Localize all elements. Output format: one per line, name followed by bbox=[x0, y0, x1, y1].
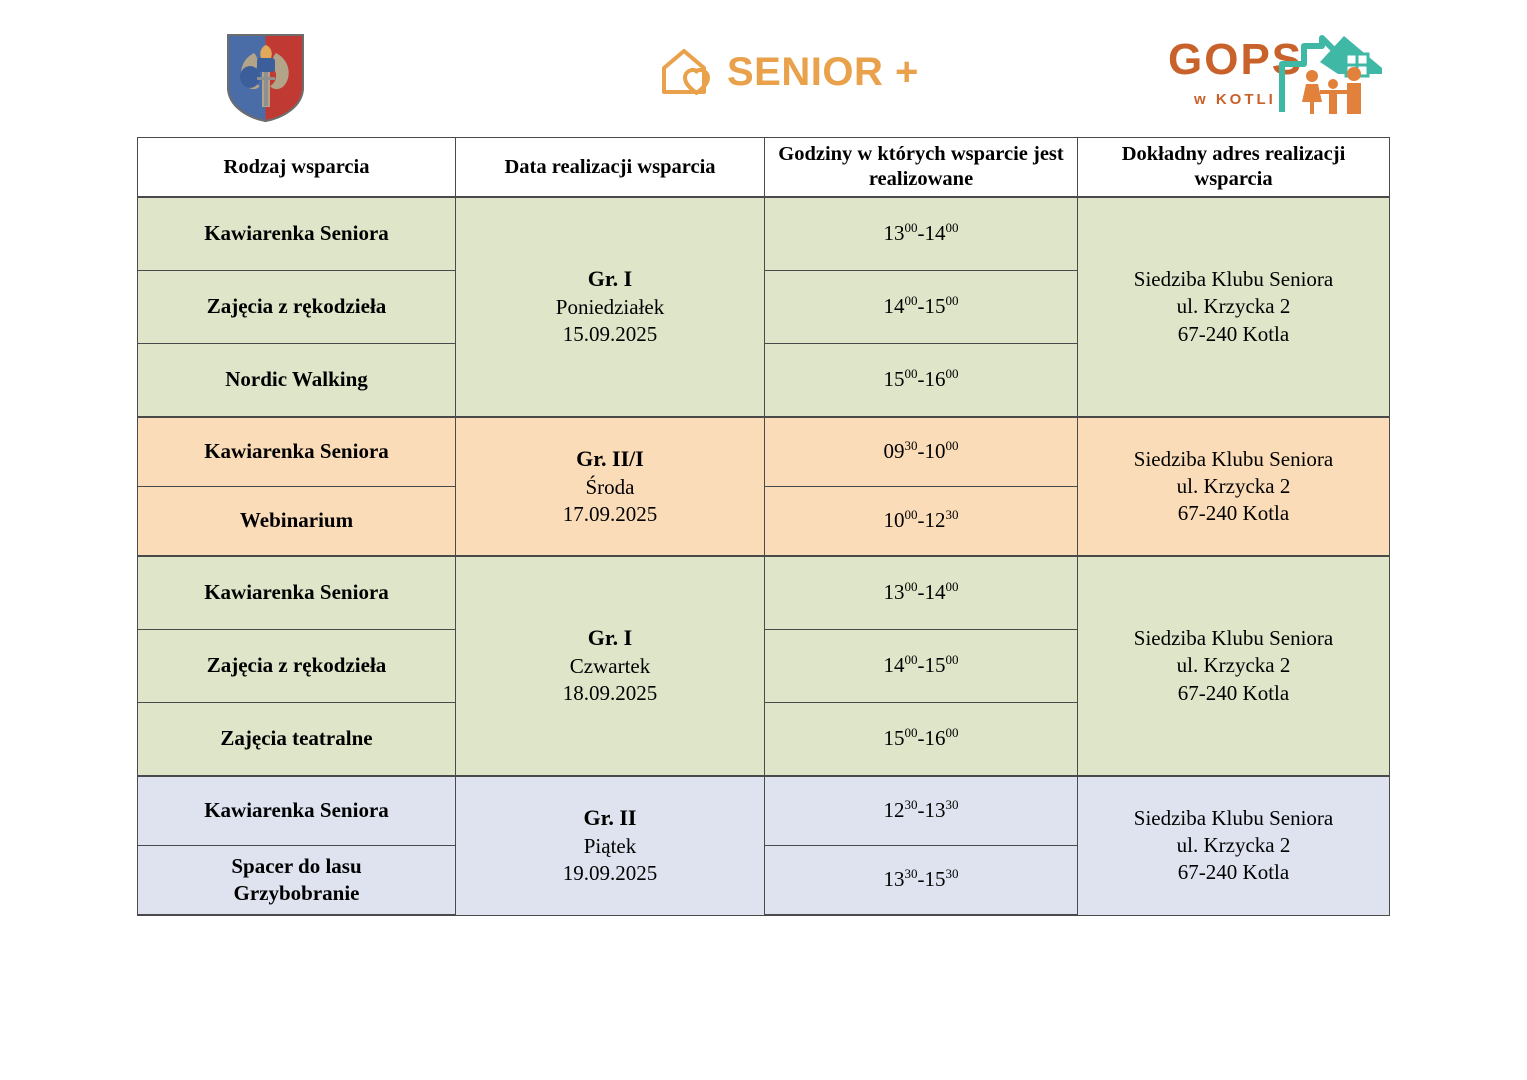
date-value: 17.09.2025 bbox=[462, 501, 758, 528]
cell-activity: Kawiarenka Seniora bbox=[138, 776, 456, 846]
gops-logo: GOPS w KOTLI bbox=[1168, 24, 1383, 120]
table-body: Kawiarenka SenioraGr. IPoniedziałek15.09… bbox=[138, 197, 1390, 915]
cell-hours: 1230-1330 bbox=[765, 776, 1078, 846]
column-header-date: Data realizacji wsparcia bbox=[456, 138, 765, 198]
table-header: Rodzaj wsparcia Data realizacji wsparcia… bbox=[138, 138, 1390, 198]
house-family-icon bbox=[1276, 24, 1386, 116]
date-value: 18.09.2025 bbox=[462, 680, 758, 707]
cell-hours: 1330-1530 bbox=[765, 846, 1078, 916]
cell-address: Siedziba Klubu Senioraul. Krzycka 267-24… bbox=[1078, 417, 1390, 556]
address-line: 67-240 Kotla bbox=[1084, 321, 1383, 348]
day-name: Poniedziałek bbox=[462, 294, 758, 321]
day-name: Piątek bbox=[462, 833, 758, 860]
cell-activity: Kawiarenka Seniora bbox=[138, 197, 456, 271]
column-header-address: Dokładny adres realizacji wsparcia bbox=[1078, 138, 1390, 198]
cell-address: Siedziba Klubu Senioraul. Krzycka 267-24… bbox=[1078, 776, 1390, 915]
cell-activity: Zajęcia teatralne bbox=[138, 703, 456, 777]
group-label: Gr. I bbox=[462, 265, 758, 294]
cell-activity: Webinarium bbox=[138, 487, 456, 557]
column-header-hours: Godziny w których wsparcie jest realizow… bbox=[765, 138, 1078, 198]
address-line: Siedziba Klubu Seniora bbox=[1084, 625, 1383, 652]
gops-sublabel: w KOTLI bbox=[1194, 92, 1276, 107]
cell-hours: 1300-1400 bbox=[765, 197, 1078, 271]
group-label: Gr. II bbox=[462, 804, 758, 833]
cell-address: Siedziba Klubu Senioraul. Krzycka 267-24… bbox=[1078, 556, 1390, 776]
cell-hours: 1400-1500 bbox=[765, 271, 1078, 344]
group-label: Gr. II/I bbox=[462, 445, 758, 474]
header-row: Rodzaj wsparcia Data realizacji wsparcia… bbox=[138, 138, 1390, 198]
cell-hours: 0930-1000 bbox=[765, 417, 1078, 487]
cell-date: Gr. ICzwartek18.09.2025 bbox=[456, 556, 765, 776]
address-line: Siedziba Klubu Seniora bbox=[1084, 805, 1383, 832]
cell-activity: Nordic Walking bbox=[138, 344, 456, 418]
table-row: Kawiarenka SenioraGr. IPoniedziałek15.09… bbox=[138, 197, 1390, 271]
house-heart-icon bbox=[660, 46, 716, 98]
group-label: Gr. I bbox=[462, 624, 758, 653]
cell-hours: 1500-1600 bbox=[765, 703, 1078, 777]
coat-of-arms-icon bbox=[224, 31, 307, 123]
date-value: 19.09.2025 bbox=[462, 860, 758, 887]
schedule-table: Rodzaj wsparcia Data realizacji wsparcia… bbox=[137, 137, 1390, 916]
day-name: Czwartek bbox=[462, 653, 758, 680]
senior-plus-logo: SENIOR + bbox=[660, 44, 919, 100]
cell-address: Siedziba Klubu Senioraul. Krzycka 267-24… bbox=[1078, 197, 1390, 417]
logo-bar: SENIOR + GOPS w KOTLI bbox=[0, 0, 1527, 130]
cell-hours: 1300-1400 bbox=[765, 556, 1078, 630]
senior-plus-label: SENIOR + bbox=[727, 52, 919, 92]
cell-activity: Spacer do lasuGrzybobranie bbox=[138, 846, 456, 916]
cell-date: Gr. IIPiątek19.09.2025 bbox=[456, 776, 765, 915]
table-row: Kawiarenka SenioraGr. IIPiątek19.09.2025… bbox=[138, 776, 1390, 846]
cell-activity: Kawiarenka Seniora bbox=[138, 556, 456, 630]
cell-hours: 1500-1600 bbox=[765, 344, 1078, 418]
address-line: 67-240 Kotla bbox=[1084, 500, 1383, 527]
cell-activity: Zajęcia z rękodzieła bbox=[138, 271, 456, 344]
address-line: ul. Krzycka 2 bbox=[1084, 473, 1383, 500]
cell-activity: Kawiarenka Seniora bbox=[138, 417, 456, 487]
address-line: Siedziba Klubu Seniora bbox=[1084, 266, 1383, 293]
address-line: ul. Krzycka 2 bbox=[1084, 652, 1383, 679]
address-line: Siedziba Klubu Seniora bbox=[1084, 446, 1383, 473]
table-row: Kawiarenka SenioraGr. ICzwartek18.09.202… bbox=[138, 556, 1390, 630]
cell-activity: Zajęcia z rękodzieła bbox=[138, 630, 456, 703]
address-line: ul. Krzycka 2 bbox=[1084, 832, 1383, 859]
cell-date: Gr. IPoniedziałek15.09.2025 bbox=[456, 197, 765, 417]
column-header-activity: Rodzaj wsparcia bbox=[138, 138, 456, 198]
date-value: 15.09.2025 bbox=[462, 321, 758, 348]
table-row: Kawiarenka SenioraGr. II/IŚroda17.09.202… bbox=[138, 417, 1390, 487]
cell-hours: 1000-1230 bbox=[765, 487, 1078, 557]
address-line: 67-240 Kotla bbox=[1084, 680, 1383, 707]
cell-date: Gr. II/IŚroda17.09.2025 bbox=[456, 417, 765, 556]
cell-hours: 1400-1500 bbox=[765, 630, 1078, 703]
address-line: 67-240 Kotla bbox=[1084, 859, 1383, 886]
address-line: ul. Krzycka 2 bbox=[1084, 293, 1383, 320]
day-name: Środa bbox=[462, 474, 758, 501]
